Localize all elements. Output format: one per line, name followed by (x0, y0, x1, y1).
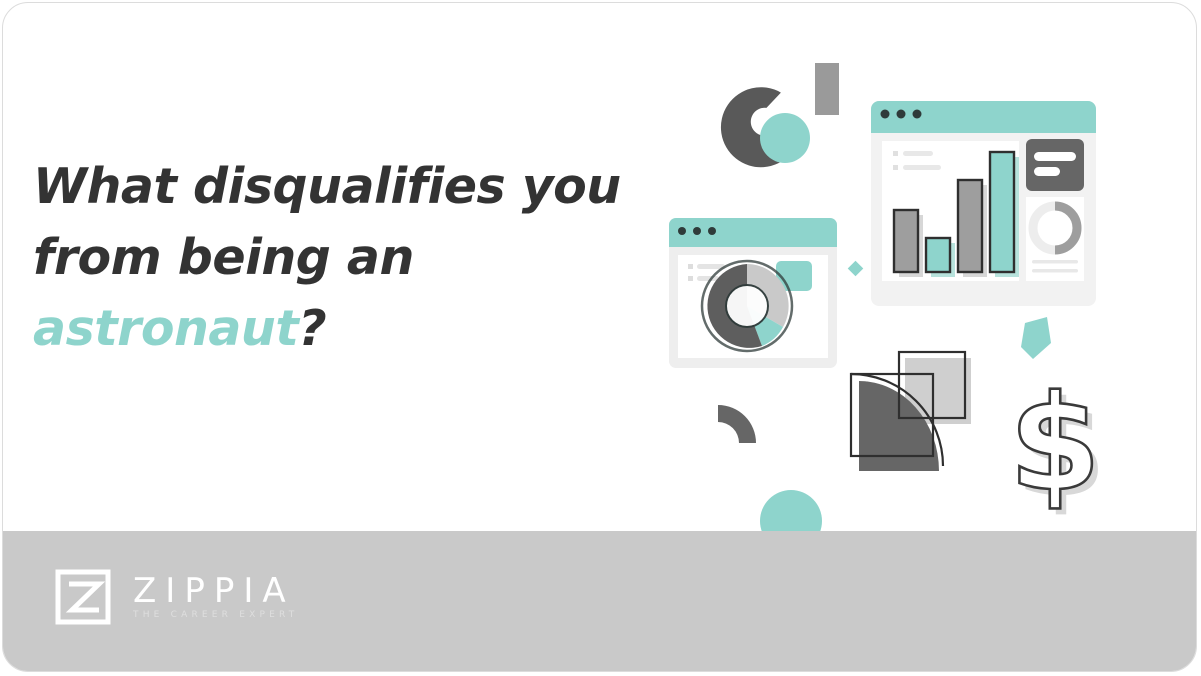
teal-shard-icon (1021, 317, 1051, 359)
zippia-wordmark: ZIPPIA (133, 574, 298, 608)
analytics-dashboard-illustration: $ $ (643, 33, 1163, 553)
grey-rectangle-icon (815, 63, 839, 115)
donut-chart-icon (702, 261, 792, 351)
dollar-sign-icon: $ $ (1009, 367, 1107, 527)
svg-text:$: $ (1009, 367, 1101, 521)
teal-diamond-icon (848, 261, 864, 277)
headline-line-3: astronaut? (33, 293, 643, 364)
headline-accent-word: astronaut (33, 300, 298, 357)
screenshot-stage: What disqualifies you from being an astr… (0, 0, 1201, 676)
zippia-tagline: THE CAREER EXPERT (133, 611, 298, 620)
zippia-wordmark-group: ZIPPIA THE CAREER EXPERT (133, 574, 298, 620)
headline-line-1: What disqualifies you (33, 151, 643, 222)
page-title: What disqualifies you from being an astr… (33, 151, 643, 364)
zippia-logo[interactable]: ZIPPIA THE CAREER EXPERT (55, 569, 298, 625)
headline-line-2: from being an (33, 222, 643, 293)
teal-circle-small-icon (760, 113, 810, 163)
donut-chart-window (669, 218, 837, 368)
grey-quarter-arc-icon (718, 405, 756, 443)
bar-chart-window (871, 101, 1096, 306)
headline-question-mark: ? (298, 300, 326, 357)
overlapping-squares-icon (848, 352, 971, 478)
zippia-z-mark-icon (55, 569, 111, 625)
article-card: What disqualifies you from being an astr… (2, 2, 1197, 672)
